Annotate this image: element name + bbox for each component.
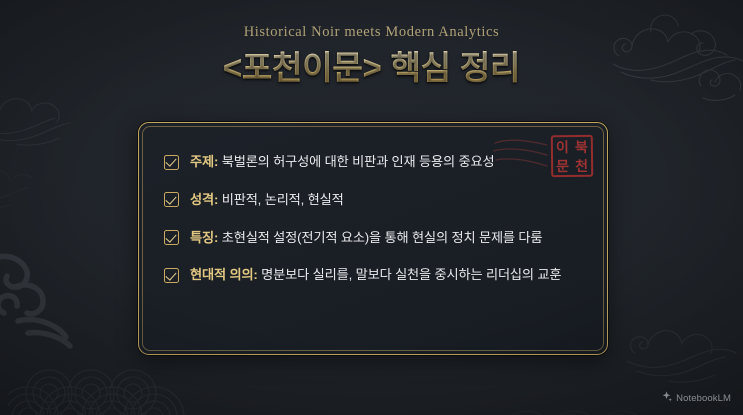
list-item-body: 비판적, 논리적, 현실적 <box>218 192 343 207</box>
slide-eyebrow: Historical Noir meets Modern Analytics <box>0 24 743 41</box>
list-item: 주제: 북벌론의 허구성에 대한 비판과 인재 등용의 중요성 <box>164 153 581 171</box>
checkbox-checked-icon <box>164 230 179 245</box>
smoke-swirl-motif-icon <box>0 237 114 357</box>
summary-card-wrapper: 이 북 문 천 주제: 북벌론의 허구성에 대한 비판과 인재 등용의 중요성 … <box>138 122 608 355</box>
summary-card: 이 북 문 천 주제: 북벌론의 허구성에 대한 비판과 인재 등용의 중요성 … <box>138 122 608 355</box>
list-item-text: 특징: 초현실적 설정(전기적 요소)을 통해 현실의 정치 문제를 다룸 <box>190 229 542 247</box>
checkbox-checked-icon <box>164 155 179 170</box>
list-item-body: 초현실적 설정(전기적 요소)을 통해 현실의 정치 문제를 다룸 <box>218 230 542 245</box>
list-item: 현대적 의의: 명분보다 실리를, 말보다 실천을 중시하는 리더십의 교훈 <box>164 266 581 284</box>
list-item-text: 성격: 비판적, 논리적, 현실적 <box>190 191 344 209</box>
cloud-motif-bottom-right-icon <box>609 301 743 397</box>
list-item-text: 주제: 북벌론의 허구성에 대한 비판과 인재 등용의 중요성 <box>190 153 494 171</box>
page-title: <포천이문> 핵심 정리 <box>0 48 743 88</box>
list-item-label: 현대적 의의: <box>190 267 258 282</box>
notebooklm-brand: NotebookLM <box>661 389 731 407</box>
list-item-body: 북벌론의 허구성에 대한 비판과 인재 등용의 중요성 <box>218 154 494 169</box>
list-item: 성격: 비판적, 논리적, 현실적 <box>164 191 581 209</box>
checkbox-checked-icon <box>164 192 179 207</box>
cloud-motif-mid-left-icon <box>0 150 52 220</box>
list-item-label: 성격: <box>190 192 218 207</box>
checkbox-checked-icon <box>164 268 179 283</box>
slide-header: Historical Noir meets Modern Analytics <… <box>0 0 743 89</box>
notebooklm-brand-label: NotebookLM <box>676 393 731 404</box>
list-item-label: 주제: <box>190 154 218 169</box>
list-item-body: 명분보다 실리를, 말보다 실천을 중시하는 리더십의 교훈 <box>258 267 562 282</box>
summary-list: 주제: 북벌론의 허구성에 대한 비판과 인재 등용의 중요성 성격: 비판적,… <box>139 123 607 284</box>
seigaiha-wave-motif-icon <box>8 347 198 415</box>
slide-root: Historical Noir meets Modern Analytics <… <box>0 0 743 415</box>
list-item-label: 특징: <box>190 230 218 245</box>
list-item: 특징: 초현실적 설정(전기적 요소)을 통해 현실의 정치 문제를 다룸 <box>164 229 581 247</box>
notebooklm-sparkle-icon <box>661 389 672 407</box>
list-item-text: 현대적 의의: 명분보다 실리를, 말보다 실천을 중시하는 리더십의 교훈 <box>190 266 561 284</box>
seigaiha-wave-motif-right-icon <box>503 375 653 415</box>
